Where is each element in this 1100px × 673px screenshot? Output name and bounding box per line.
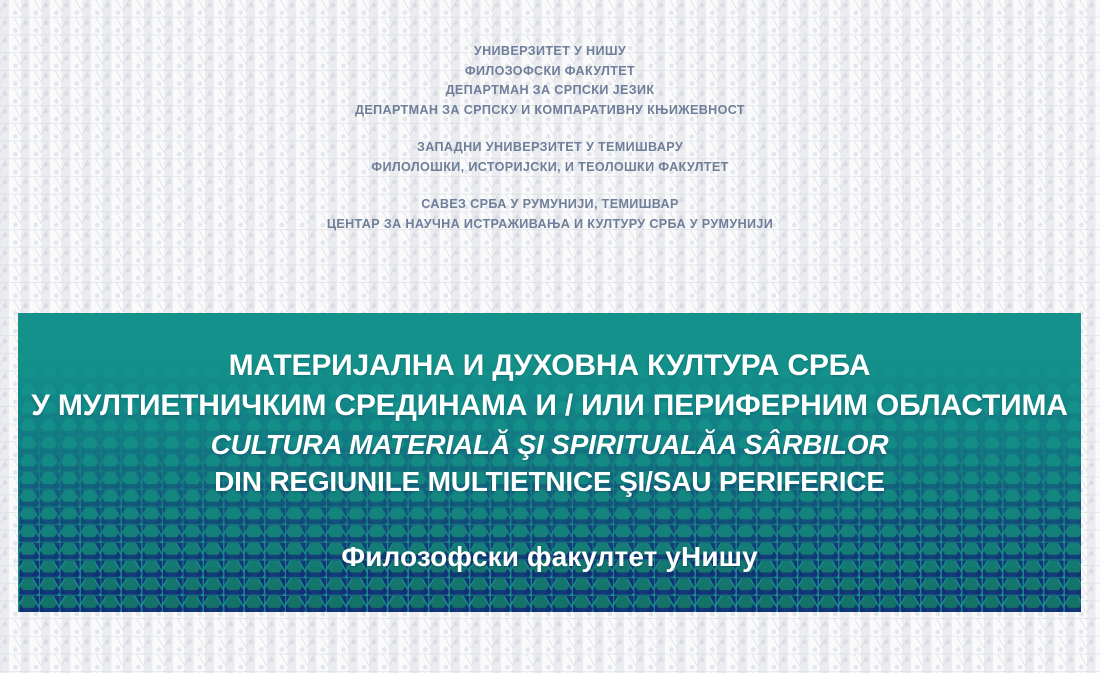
poster-page: УНИВЕРЗИТЕТ У НИШУ ФИЛОЗОФСКИ ФАКУЛТЕТ Д…: [0, 0, 1100, 673]
title-banner: МАТЕРИЈАЛНА И ДУХОВНА КУЛТУРА СРБА У МУЛ…: [18, 313, 1081, 612]
conference-title: МАТЕРИЈАЛНА И ДУХОВНА КУЛТУРА СРБА У МУЛ…: [18, 346, 1081, 500]
banner-content: МАТЕРИЈАЛНА И ДУХОВНА КУЛТУРА СРБА У МУЛ…: [18, 313, 1081, 612]
institution-line: САВЕЗ СРБА У РУМУНИЈИ, ТЕМИШВАР: [0, 195, 1100, 215]
institution-line: ДЕПАРТМАН ЗА СРПСКИ ЈЕЗИК: [0, 81, 1100, 101]
venue-label: Филозофски факултет уНишу: [18, 541, 1081, 573]
institution-line: ФИЛОЛОШКИ, ИСТОРИЈСКИ, И ТЕОЛОШКИ ФАКУЛТ…: [0, 158, 1100, 178]
institution-header: УНИВЕРЗИТЕТ У НИШУ ФИЛОЗОФСКИ ФАКУЛТЕТ Д…: [0, 42, 1100, 234]
institution-line: ЗАПАДНИ УНИВЕРЗИТЕТ У ТЕМИШВАРУ: [0, 138, 1100, 158]
institution-group-nis: УНИВЕРЗИТЕТ У НИШУ ФИЛОЗОФСКИ ФАКУЛТЕТ Д…: [0, 42, 1100, 120]
title-line-romanian-2: DIN REGIUNILE MULTIETNICE ŞI/SAU PERIFER…: [18, 463, 1081, 500]
institution-line: ДЕПАРТМАН ЗА СРПСКУ И КОМПАРАТИВНУ КЊИЖЕ…: [0, 101, 1100, 121]
institution-group-savez: САВЕЗ СРБА У РУМУНИЈИ, ТЕМИШВАР ЦЕНТАР З…: [0, 195, 1100, 234]
institution-group-timisoara: ЗАПАДНИ УНИВЕРЗИТЕТ У ТЕМИШВАРУ ФИЛОЛОШК…: [0, 138, 1100, 177]
institution-line: ФИЛОЗОФСКИ ФАКУЛТЕТ: [0, 62, 1100, 82]
institution-line: ЦЕНТАР ЗА НАУЧНА ИСТРАЖИВАЊА И КУЛТУРУ С…: [0, 215, 1100, 235]
title-line-serbian-2: У МУЛТИЕТНИЧКИМ СРЕДИНАМА И / ИЛИ ПЕРИФЕ…: [18, 386, 1081, 426]
title-line-romanian-1: CULTURA MATERIALĂ ŞI SPIRITUALĂA SÂRBILO…: [18, 426, 1081, 463]
title-line-serbian-1: МАТЕРИЈАЛНА И ДУХОВНА КУЛТУРА СРБА: [18, 346, 1081, 386]
institution-line: УНИВЕРЗИТЕТ У НИШУ: [0, 42, 1100, 62]
